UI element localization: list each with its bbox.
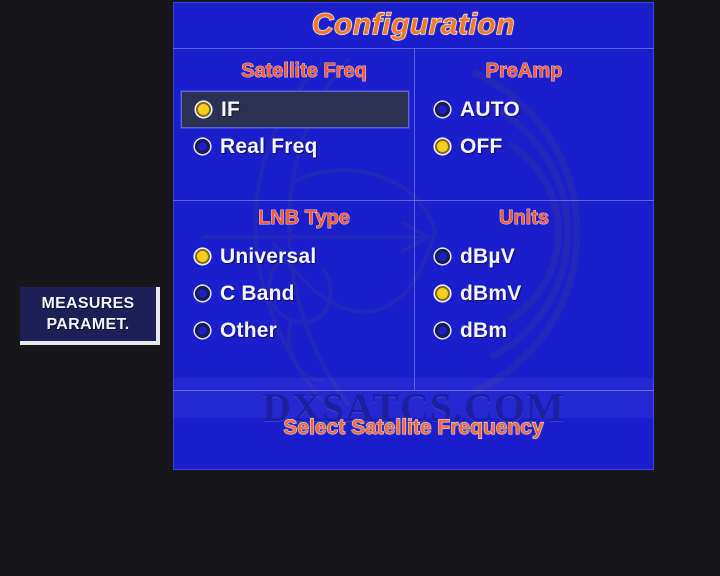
radio-option-auto[interactable]: AUTO bbox=[421, 91, 649, 128]
radio-option-other[interactable]: Other bbox=[181, 312, 409, 349]
option-list-lnb-type: Universal C Band Other bbox=[181, 238, 409, 349]
option-label: dBm bbox=[460, 319, 507, 343]
group-lnb-type: LNB Type Universal C Band Other bbox=[181, 207, 409, 349]
group-units: Units dBµV dBmV dBm bbox=[421, 207, 649, 349]
option-label: AUTO bbox=[460, 98, 520, 122]
option-label: Real Freq bbox=[220, 135, 318, 159]
bottom-divider bbox=[173, 390, 654, 391]
group-satellite-freq: Satellite Freq IF Real Freq bbox=[181, 60, 409, 165]
option-label: dBmV bbox=[460, 282, 521, 306]
option-list-units: dBµV dBmV dBm bbox=[421, 238, 649, 349]
status-text: Select Satellite Frequency bbox=[283, 416, 543, 439]
option-label: Other bbox=[220, 319, 277, 343]
tv-screen: MEASURES PARAMET. DXSATCS.COM bbox=[0, 0, 720, 576]
page-title: Configuration bbox=[312, 8, 515, 42]
group-title-lnb-type: LNB Type bbox=[181, 207, 409, 230]
measures-parameters-label: MEASURES PARAMET. bbox=[20, 287, 156, 341]
measures-label-line2: PARAMET. bbox=[47, 314, 130, 335]
option-label: dBµV bbox=[460, 245, 515, 269]
configuration-panel: DXSATCS.COM Configuration Satellite Freq… bbox=[173, 2, 654, 470]
panel-title-bar: Configuration bbox=[173, 2, 654, 48]
group-title-preamp: PreAmp bbox=[421, 60, 649, 83]
radio-indicator-icon[interactable] bbox=[435, 323, 450, 338]
option-label: OFF bbox=[460, 135, 503, 159]
option-label: IF bbox=[221, 98, 240, 122]
radio-indicator-icon[interactable] bbox=[196, 102, 211, 117]
radio-option-dbuv[interactable]: dBµV bbox=[421, 238, 649, 275]
radio-indicator-icon[interactable] bbox=[435, 139, 450, 154]
radio-option-off[interactable]: OFF bbox=[421, 128, 649, 165]
radio-option-universal[interactable]: Universal bbox=[181, 238, 409, 275]
radio-indicator-icon[interactable] bbox=[435, 102, 450, 117]
radio-option-c-band[interactable]: C Band bbox=[181, 275, 409, 312]
radio-option-dbmv[interactable]: dBmV bbox=[421, 275, 649, 312]
radio-indicator-icon[interactable] bbox=[435, 249, 450, 264]
radio-indicator-icon[interactable] bbox=[435, 286, 450, 301]
vertical-divider bbox=[414, 49, 415, 390]
radio-option-if[interactable]: IF bbox=[181, 91, 409, 128]
option-label: C Band bbox=[220, 282, 295, 306]
radio-indicator-icon[interactable] bbox=[195, 139, 210, 154]
status-bar: Select Satellite Frequency bbox=[173, 416, 654, 440]
group-preamp: PreAmp AUTO OFF bbox=[421, 60, 649, 165]
option-list-satellite-freq: IF Real Freq bbox=[181, 91, 409, 165]
radio-indicator-icon[interactable] bbox=[195, 249, 210, 264]
option-list-preamp: AUTO OFF bbox=[421, 91, 649, 165]
group-title-units: Units bbox=[421, 207, 649, 230]
radio-indicator-icon[interactable] bbox=[195, 286, 210, 301]
radio-option-real-freq[interactable]: Real Freq bbox=[181, 128, 409, 165]
option-label: Universal bbox=[220, 245, 316, 269]
group-title-satellite-freq: Satellite Freq bbox=[181, 60, 409, 83]
measures-label-line1: MEASURES bbox=[41, 293, 134, 314]
radio-option-dbm[interactable]: dBm bbox=[421, 312, 649, 349]
radio-indicator-icon[interactable] bbox=[195, 323, 210, 338]
